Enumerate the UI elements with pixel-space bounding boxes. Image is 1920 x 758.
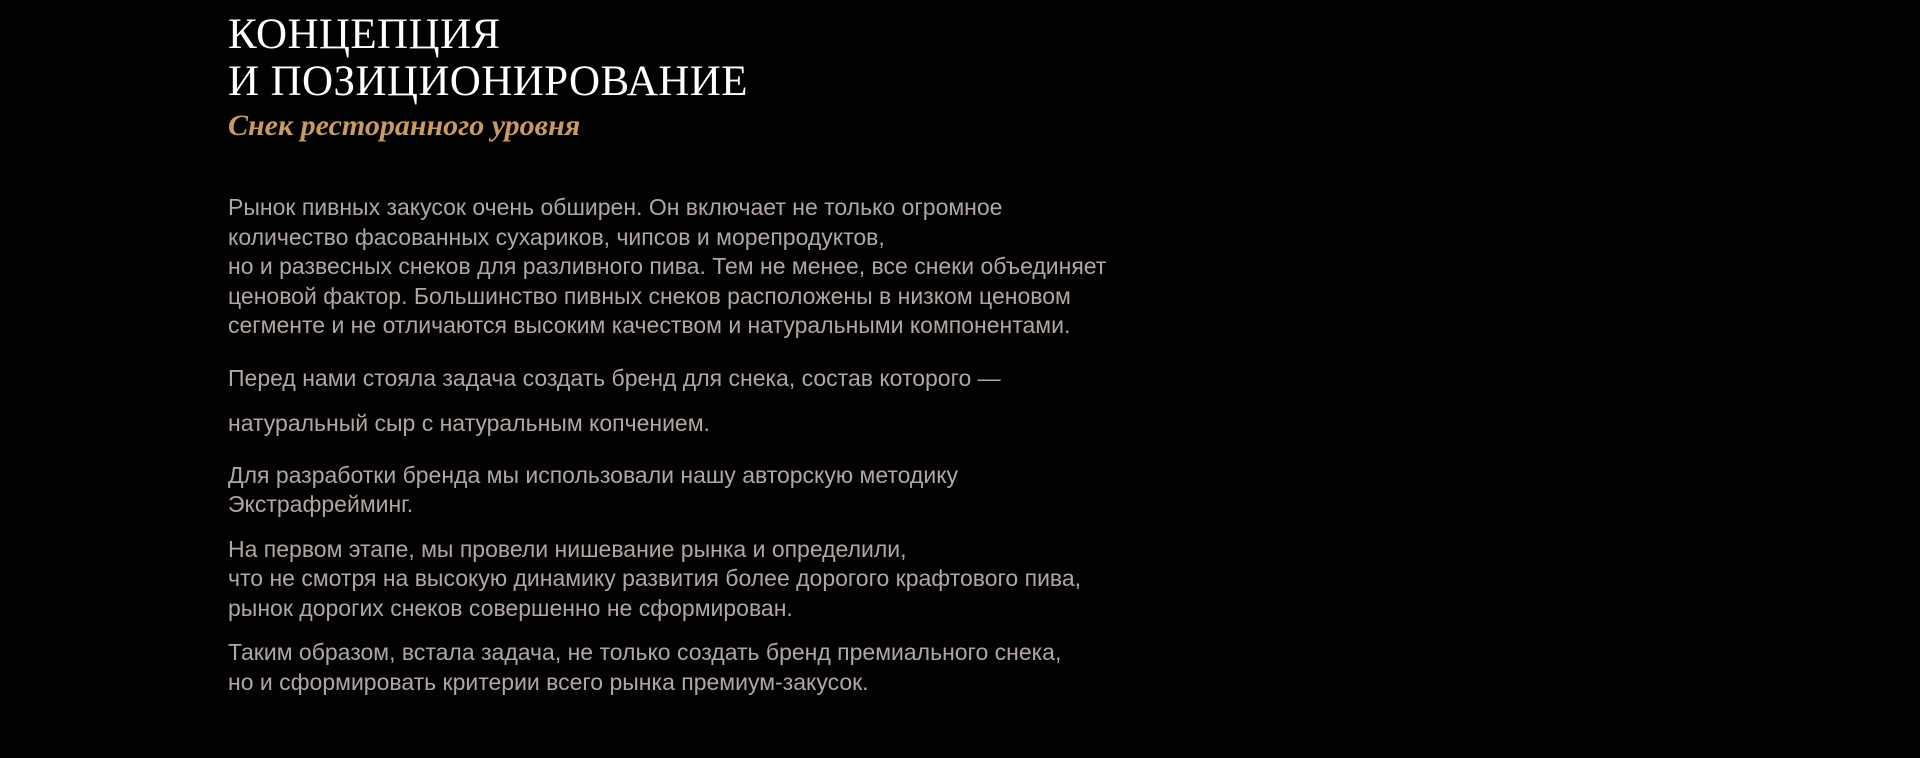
page-title-line-2: И ПОЗИЦИОНИРОВАНИЕ [228, 58, 1528, 105]
paragraph-line: Таким образом, встала задача, не только … [228, 638, 1528, 668]
paragraph-line: На первом этапе, мы провели нишевание ры… [228, 535, 1528, 565]
paragraph-line: Рынок пивных закусок очень обширен. Он в… [228, 193, 1528, 223]
paragraph-line: натуральный сыр с натуральным копчением. [228, 401, 1528, 446]
paragraph-line: Экстрафрейминг. [228, 490, 1528, 520]
paragraph-line: ценовой фактор. Большинство пивных снеко… [228, 282, 1528, 312]
page-title-line-1: КОНЦЕПЦИЯ [228, 11, 1528, 58]
content-column: КОНЦЕПЦИЯ И ПОЗИЦИОНИРОВАНИЕ Снек рестор… [228, 0, 1528, 697]
heading-block: КОНЦЕПЦИЯ И ПОЗИЦИОНИРОВАНИЕ Снек рестор… [228, 0, 1528, 146]
paragraph-line: сегменте и не отличаются высоким качеств… [228, 311, 1528, 341]
paragraph-line: но и сформировать критерии всего рынка п… [228, 668, 1528, 698]
paragraph-line: количество фасованных сухариков, чипсов … [228, 223, 1528, 253]
body-copy: Рынок пивных закусок очень обширен. Он в… [228, 193, 1528, 697]
paragraph: Таким образом, встала задача, не только … [228, 638, 1528, 697]
paragraph-line: Для разработки бренда мы использовали на… [228, 461, 1528, 491]
paragraph-line: Перед нами стояла задача создать бренд д… [228, 356, 1528, 401]
paragraph: Рынок пивных закусок очень обширен. Он в… [228, 193, 1528, 341]
slide-canvas: КОНЦЕПЦИЯ И ПОЗИЦИОНИРОВАНИЕ Снек рестор… [0, 0, 1920, 758]
page-subtitle: Снек ресторанного уровня [228, 106, 1528, 146]
paragraph: Для разработки бренда мы использовали на… [228, 461, 1528, 520]
paragraph: Перед нами стояла задача создать бренд д… [228, 356, 1528, 446]
paragraph: На первом этапе, мы провели нишевание ры… [228, 535, 1528, 624]
paragraph-line: но и развесных снеков для разливного пив… [228, 252, 1528, 282]
paragraph-line: что не смотря на высокую динамику развит… [228, 564, 1528, 594]
paragraph-line: рынок дорогих снеков совершенно не сформ… [228, 594, 1528, 624]
